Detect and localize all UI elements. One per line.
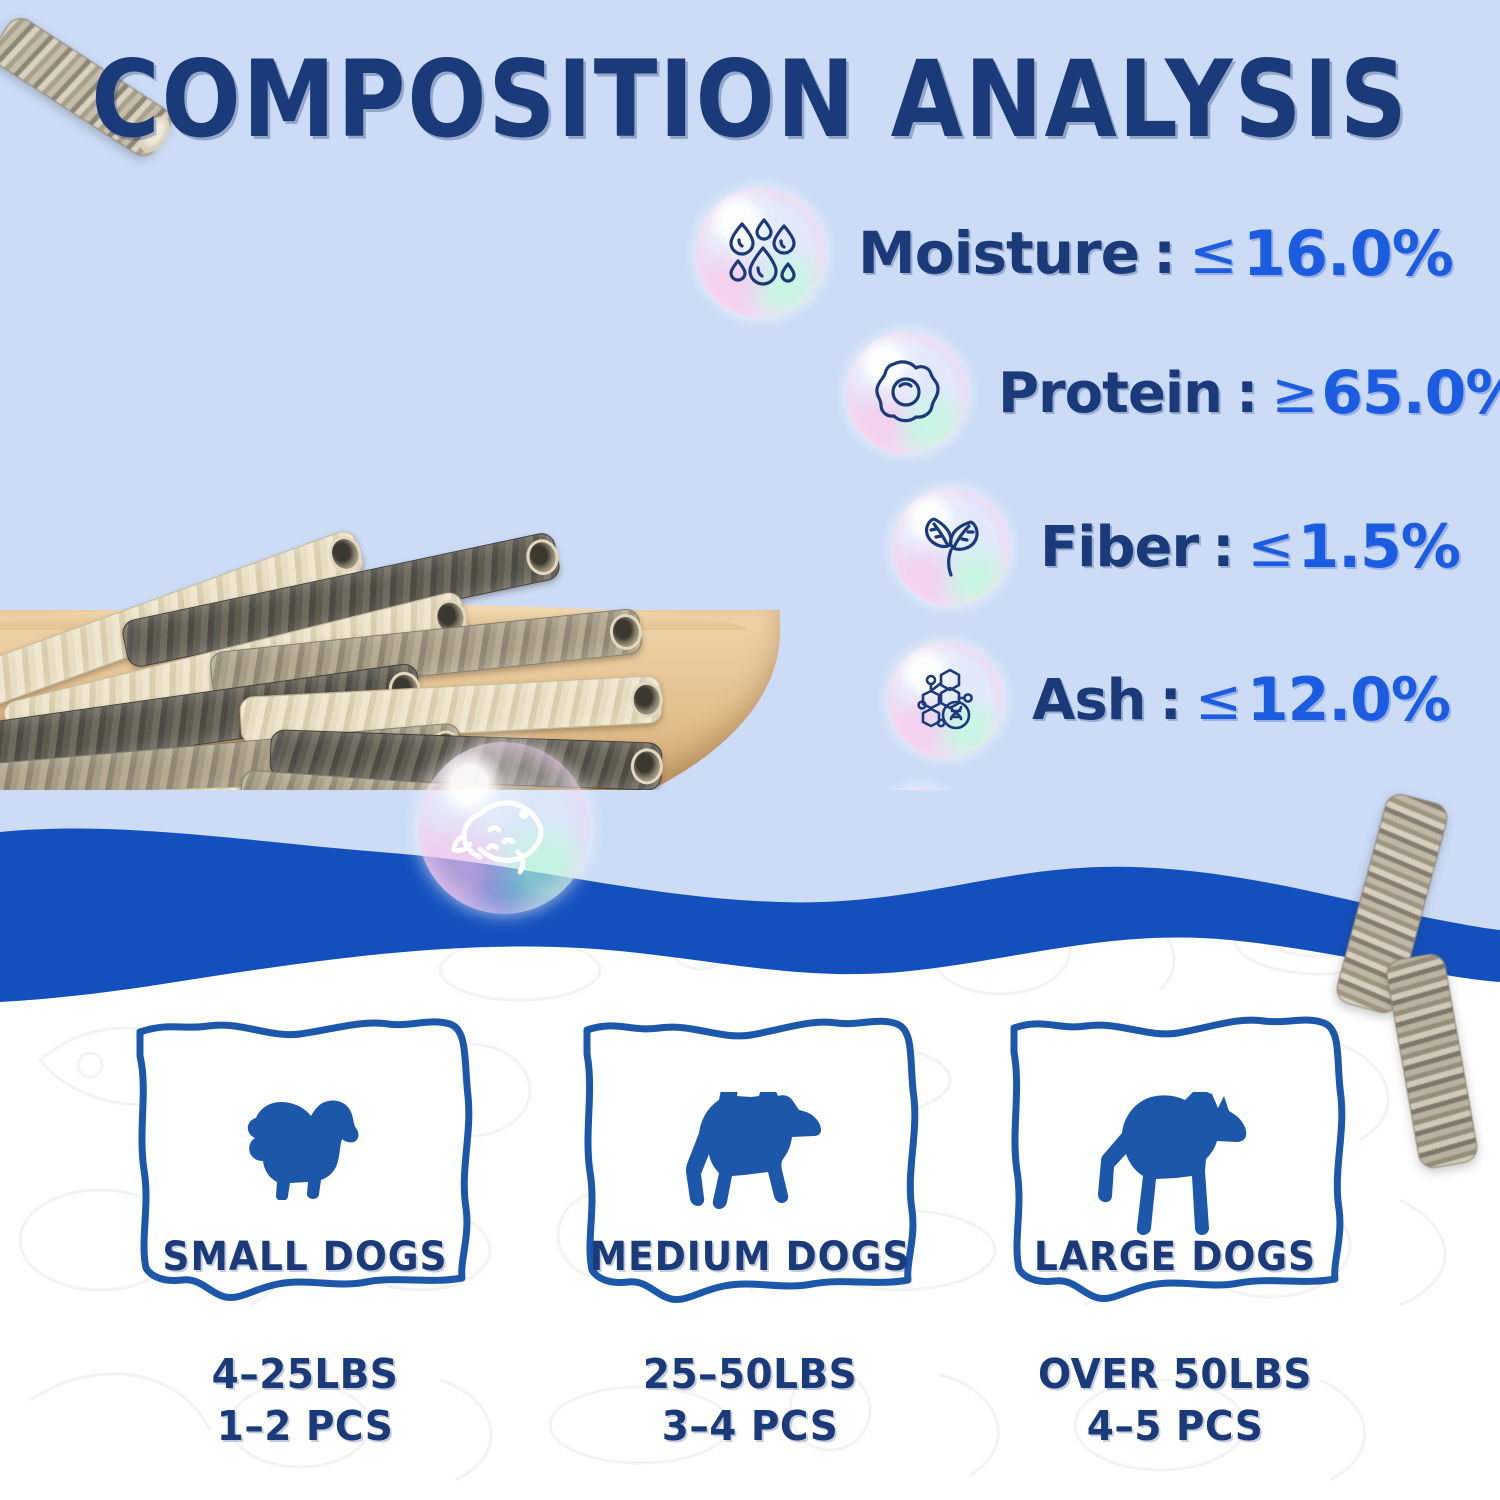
feeding-meta-small: 4–25LBS 1–2 PCS [139, 1348, 472, 1453]
composition-value: 16.0% [1243, 217, 1453, 290]
card-title: LARGE DOGS [1011, 1234, 1340, 1280]
composition-operator: ≤ [1189, 219, 1237, 287]
composition-operator: ≤ [1248, 515, 1294, 580]
composition-value: 65.0% [1321, 358, 1500, 428]
wavy-divider [0, 790, 1500, 1020]
feeding-meta-large: OVER 50LBS 4–5 PCS [1009, 1348, 1342, 1453]
composition-value: 1.5% [1297, 512, 1459, 582]
piece-count: 4–5 PCS [1009, 1400, 1342, 1452]
composition-row: Moisture : ≤ 16.0% [696, 188, 1453, 318]
composition-separator: : [1153, 219, 1175, 287]
composition-label: Protein [998, 361, 1222, 426]
small-dog-icon [230, 1092, 380, 1200]
card-title: SMALL DOGS [141, 1234, 470, 1280]
feeding-card-medium[interactable]: MEDIUM DOGS [575, 1010, 925, 1320]
page-title: COMPOSITION ANALYSIS [90, 44, 1410, 155]
medium-dog-icon [662, 1092, 838, 1228]
water-drops-icon [696, 188, 826, 318]
composition-row: Protein : ≥ 65.0% [846, 332, 1500, 454]
infographic-canvas: COMPOSITION ANALYSIS [0, 0, 1500, 1500]
card-title: MEDIUM DOGS [586, 1234, 915, 1280]
feeding-card-small[interactable]: SMALL DOGS [130, 1010, 480, 1320]
large-dog-icon [1080, 1092, 1270, 1238]
composition-value: 12.0% [1247, 665, 1450, 735]
feeding-guide: SMALL DOGS MEDIUM DOGS LARGE DOGS [0, 1010, 1500, 1340]
fish-icon [418, 742, 590, 914]
composition-separator: : [1236, 361, 1257, 426]
molecule-dna-icon [888, 642, 1004, 758]
piece-count: 3–4 PCS [584, 1400, 917, 1452]
feeding-card-large[interactable]: LARGE DOGS [1000, 1010, 1350, 1320]
composition-list: Moisture : ≤ 16.0% Protein : ≥ 65.0% [660, 180, 1480, 880]
weight-range: 4–25LBS [139, 1348, 472, 1400]
composition-label: Ash [1032, 668, 1146, 733]
composition-row: Fiber : ≤ 1.5% [892, 488, 1460, 606]
piece-count: 1–2 PCS [139, 1400, 472, 1452]
composition-row: Ash : ≤ 12.0% [888, 642, 1450, 758]
leaf-plant-icon [892, 488, 1010, 606]
composition-label: Fiber [1040, 515, 1198, 580]
composition-label: Moisture [858, 219, 1139, 287]
weight-range: 25–50LBS [584, 1348, 917, 1400]
top-panel: COMPOSITION ANALYSIS [0, 0, 1500, 900]
fried-egg-icon [846, 332, 968, 454]
weight-range: OVER 50LBS [1009, 1348, 1342, 1400]
composition-separator: : [1212, 515, 1233, 580]
feeding-meta-medium: 25–50LBS 3–4 PCS [584, 1348, 917, 1453]
composition-operator: ≥ [1271, 361, 1317, 426]
composition-separator: : [1160, 668, 1181, 733]
composition-operator: ≤ [1195, 668, 1241, 733]
